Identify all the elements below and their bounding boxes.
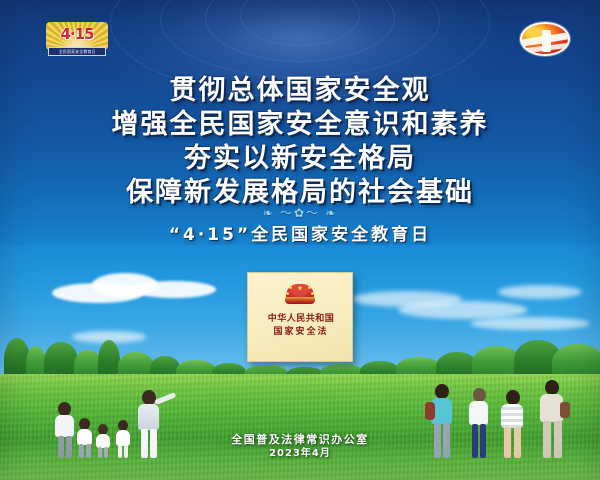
- footer-block: 全国普及法律常识办公室 2023年4月: [0, 432, 600, 461]
- head: [435, 384, 449, 399]
- emblem-small-star: [308, 286, 311, 289]
- emblem-base: [285, 297, 315, 304]
- head: [545, 380, 559, 395]
- emblem-small-star: [311, 292, 314, 295]
- national-security-law-book: 中华人民共和国 国家安全法: [247, 272, 353, 362]
- torso: [469, 401, 488, 425]
- decorative-divider: ❧ ～✿～ ❧: [0, 206, 600, 220]
- china-national-emblem-icon: [283, 281, 317, 306]
- security-education-day-logo[interactable]: 4·15 全民国家安全教育日: [44, 22, 110, 60]
- backpack: [425, 402, 435, 420]
- book-title: 中华人民共和国 国家安全法: [248, 313, 354, 339]
- emblem-mark: [542, 30, 551, 52]
- issuing-organization: 全国普及法律常识办公室: [0, 432, 600, 447]
- torso: [501, 404, 523, 428]
- logo-number: 4·15: [44, 27, 110, 42]
- headline-line-1: 贯彻总体国家安全观: [0, 74, 600, 108]
- head: [506, 390, 520, 405]
- cloud-8: [470, 317, 590, 330]
- torso: [138, 404, 159, 430]
- headline-line-2: 增强全民国家安全意识和素养: [0, 108, 600, 142]
- cloud-3: [132, 281, 216, 298]
- ripple-ring-3: [205, 0, 395, 62]
- publication-date: 2023年4月: [0, 447, 600, 461]
- emblem-small-star: [286, 292, 289, 295]
- shoulder-bag: [560, 402, 570, 418]
- headline-block: 贯彻总体国家安全观 增强全民国家安全意识和素养 夯实以新安全格局 保障新发展格局…: [0, 74, 600, 210]
- headline-line-4: 保障新发展格局的社会基础: [0, 176, 600, 210]
- book-title-line-2: 国家安全法: [248, 326, 354, 339]
- security-education-day-poster: 4·15 全民国家安全教育日 贯彻总体国家安全观 增强全民国家安全意识和素养 夯…: [0, 0, 600, 480]
- red-oval-emblem-icon[interactable]: [520, 22, 570, 56]
- emblem-small-star: [289, 286, 292, 289]
- head: [142, 390, 156, 405]
- ripple-ring-2: [160, 0, 440, 78]
- poster-subtitle: “4·15”全民国家安全教育日: [0, 224, 600, 246]
- headline-line-3: 夯实以新安全格局: [0, 142, 600, 176]
- ripple-ring-4: [240, 0, 360, 46]
- head: [473, 388, 486, 402]
- head: [58, 402, 71, 416]
- logo-strip: 全民国家安全教育日: [48, 47, 106, 56]
- logo-strip-text: 全民国家安全教育日: [58, 50, 95, 54]
- raised-arm: [154, 392, 176, 405]
- book-title-line-1: 中华人民共和国: [248, 313, 354, 326]
- cloud-6: [398, 301, 528, 319]
- cloud-7: [498, 285, 582, 299]
